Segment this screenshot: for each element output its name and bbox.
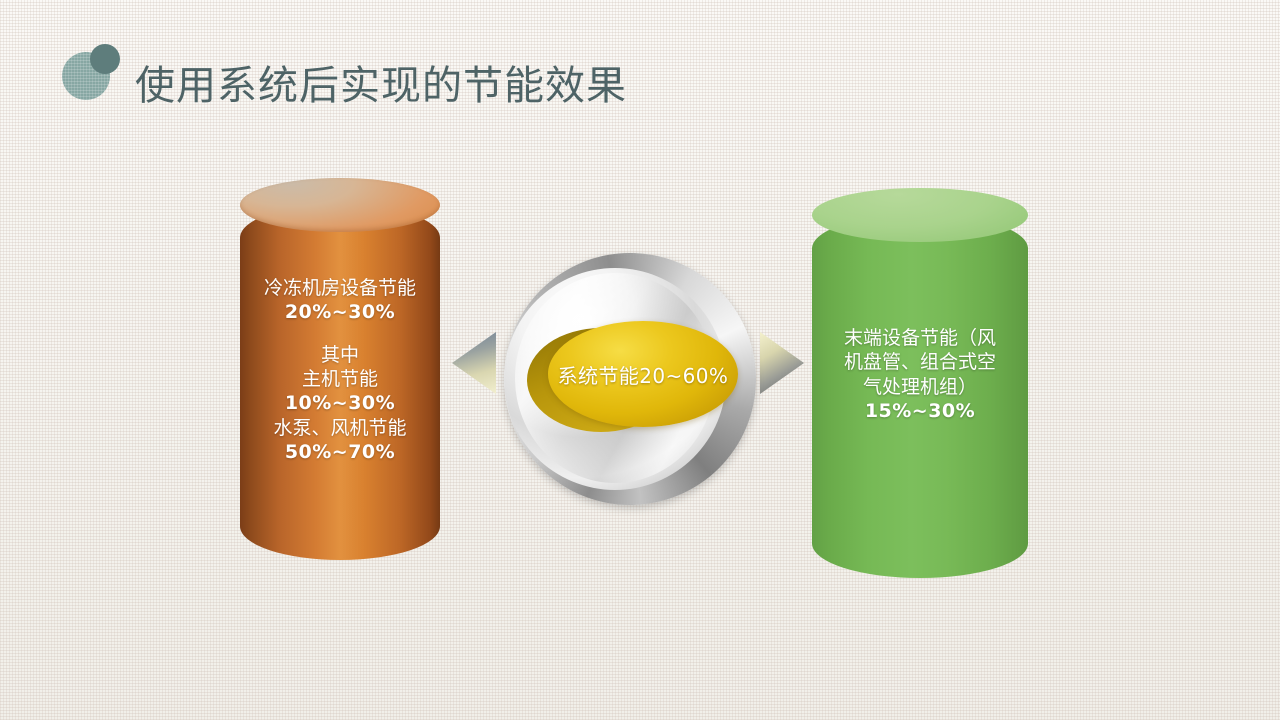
right-line-1: 末端设备节能（风 xyxy=(812,326,1028,350)
left-line-6: 水泵、风机节能 xyxy=(240,416,440,440)
left-line-7: 50%~70% xyxy=(240,440,440,464)
cylinder-left-text: 冷冻机房设备节能 20%~30% 其中 主机节能 10%~30% 水泵、风机节能… xyxy=(240,276,440,464)
right-line-3: 气处理机组） xyxy=(812,375,1028,399)
right-line-4: 15%~30% xyxy=(812,399,1028,423)
left-line-2: 20%~30% xyxy=(240,300,440,324)
logo xyxy=(62,44,124,102)
text-spacer xyxy=(240,325,440,343)
cylinder-top-ellipse xyxy=(240,178,440,232)
system-saving-label: 系统节能20~60% xyxy=(548,321,738,427)
cylinder-top-ellipse xyxy=(812,188,1028,242)
left-line-1: 冷冻机房设备节能 xyxy=(240,276,440,300)
slide-canvas: 使用系统后实现的节能效果 冷冻机房设备节能 20%~30% 其中 主机节能 10… xyxy=(0,0,1280,720)
left-line-4: 主机节能 xyxy=(240,367,440,391)
cylinder-terminal-equipment: 末端设备节能（风 机盘管、组合式空 气处理机组） 15%~30% xyxy=(812,214,1028,578)
page-title: 使用系统后实现的节能效果 xyxy=(135,53,627,111)
cylinder-chiller-plant: 冷冻机房设备节能 20%~30% 其中 主机节能 10%~30% 水泵、风机节能… xyxy=(240,204,440,560)
left-line-5: 10%~30% xyxy=(240,391,440,415)
circle-small-icon xyxy=(90,44,120,74)
right-line-2: 机盘管、组合式空 xyxy=(812,350,1028,374)
left-line-3: 其中 xyxy=(240,343,440,367)
center-badge: 系统节能20~60% xyxy=(489,253,771,505)
slide-header: 使用系统后实现的节能效果 xyxy=(0,0,1280,140)
cylinder-right-text: 末端设备节能（风 机盘管、组合式空 气处理机组） 15%~30% xyxy=(812,326,1028,423)
